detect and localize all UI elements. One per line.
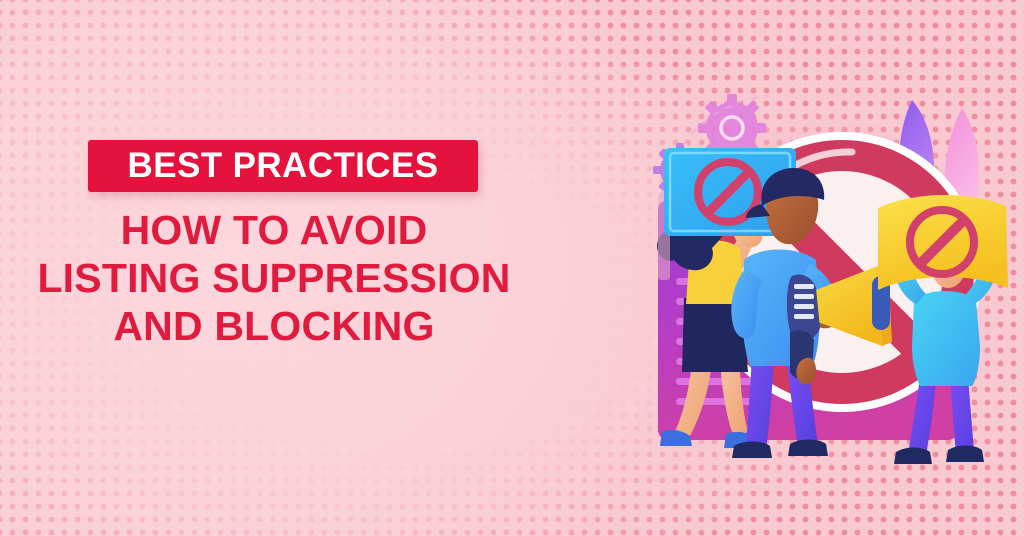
right-shoe-back [894, 448, 932, 465]
text-block: BEST PRACTICES HOW TO AVOID LISTING SUPP… [0, 140, 572, 350]
best-practices-banner: BEST PRACTICES HOW TO AVOID LISTING SUPP… [0, 0, 1024, 536]
headline-line-1: HOW TO AVOID [0, 206, 548, 254]
badge-label: BEST PRACTICES [88, 140, 478, 192]
right-leg-front [950, 378, 974, 454]
best-practices-badge: BEST PRACTICES [88, 140, 478, 192]
yellow-placard-no-symbol [878, 195, 1008, 290]
protest-prohibition-illustration [620, 60, 1024, 500]
page-title: HOW TO AVOID LISTING SUPPRESSION AND BLO… [0, 206, 572, 350]
headline-line-3: AND BLOCKING [0, 302, 548, 350]
right-shoe-front [946, 446, 984, 463]
headline-line-2: LISTING SUPPRESSION [0, 254, 548, 302]
man-shoe-front [788, 440, 828, 457]
right-shirt [912, 291, 980, 386]
